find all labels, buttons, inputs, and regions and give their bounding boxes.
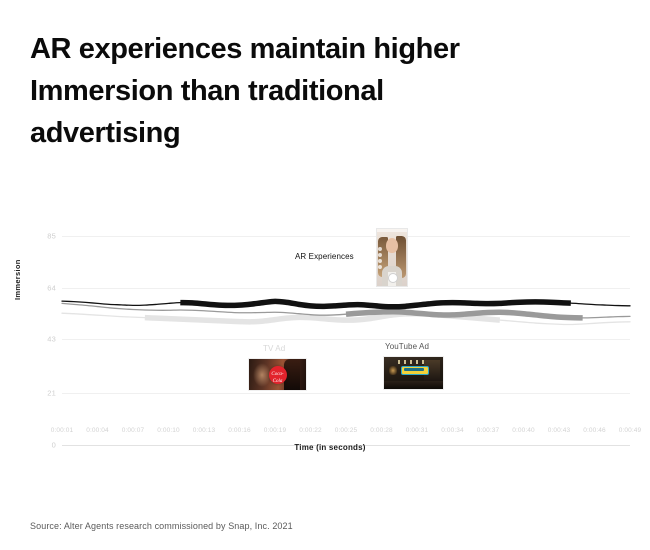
page-title: AR experiences maintain higher Immersion… [30,28,610,154]
x-tick-label: 0:00:40 [512,427,534,434]
x-tick-label: 0:00:37 [477,427,499,434]
gridline [62,339,630,340]
x-tick-label: 0:00:10 [157,427,179,434]
x-tick-label: 0:00:22 [299,427,321,434]
annotation-tv-ad: TV Ad [263,344,285,353]
gridline [62,236,630,237]
ar-experience-thumbnail [376,228,408,287]
x-axis-ticks: 0:00:010:00:040:00:070:00:100:00:130:00:… [62,427,630,441]
x-tick-label: 0:00:31 [406,427,428,434]
gridline [62,393,630,394]
youtube-ad-thumbnail [383,356,444,390]
y-tick-label: 64 [16,283,56,292]
series-emphasis-ar-experiences [180,301,571,306]
plot-area [62,236,630,445]
x-tick-label: 0:00:19 [264,427,286,434]
y-tick-label: 43 [16,335,56,344]
x-axis-title: Time (in seconds) [0,443,650,452]
y-axis-title: Immersion [13,259,22,300]
x-axis-title-label: Time (in seconds) [294,443,365,452]
x-tick-label: 0:00:13 [193,427,215,434]
x-tick-label: 0:00:34 [441,427,463,434]
x-tick-label: 0:00:01 [51,427,73,434]
y-tick-label: 21 [16,389,56,398]
annotation-ar-experiences: AR Experiences [295,252,354,261]
y-tick-label: 85 [16,232,56,241]
x-tick-label: 0:00:04 [86,427,108,434]
x-tick-label: 0:00:16 [228,427,250,434]
source-note: Source: Alter Agents research commission… [30,521,293,531]
x-tick-label: 0:00:43 [548,427,570,434]
x-tick-label: 0:00:25 [335,427,357,434]
coca-cola-logo-icon: Coca-Cola [269,366,287,384]
annotation-youtube-ad: YouTube Ad [385,342,429,351]
series-lines [62,236,630,445]
x-tick-label: 0:00:07 [122,427,144,434]
x-tick-label: 0:00:49 [619,427,641,434]
x-tick-label: 0:00:46 [583,427,605,434]
x-tick-label: 0:00:28 [370,427,392,434]
gridline [62,288,630,289]
tv-ad-thumbnail: Coca-Cola [248,358,307,391]
